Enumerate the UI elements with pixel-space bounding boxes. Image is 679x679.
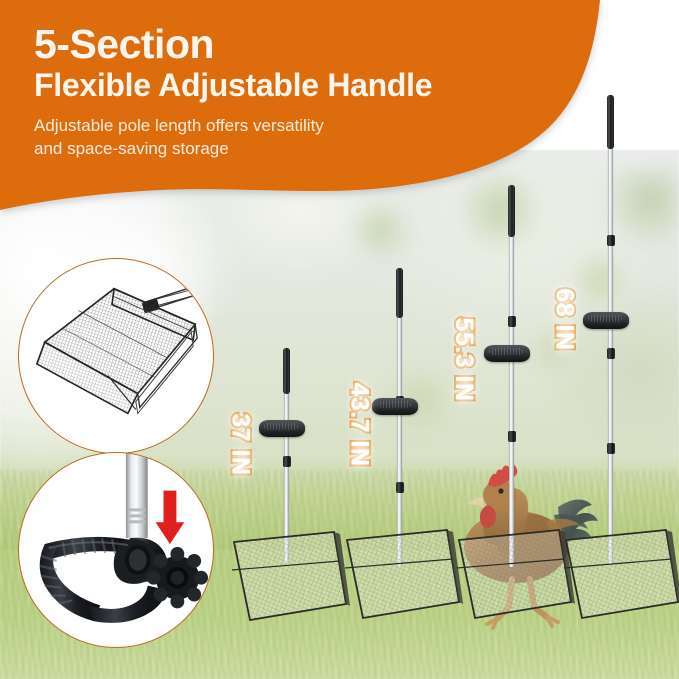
pole-collar (508, 316, 516, 327)
inset-mesh-scoop (18, 258, 214, 454)
pole-55-3in (508, 185, 515, 567)
foot-pedal-55-3in (484, 345, 530, 362)
pole-shaft (509, 185, 514, 567)
mesh-rake-head-55-3in (455, 528, 575, 628)
pole-collar (607, 348, 615, 359)
header-description-line1: Adjustable pole length offers versatilit… (34, 115, 554, 137)
pole-grip (283, 348, 290, 394)
mesh-rake-head-43-7in (343, 528, 463, 628)
pole-43-7in (396, 268, 403, 566)
header-text-block: 5-Section Flexible Adjustable Handle Adj… (34, 22, 554, 160)
size-label-37in: 37 IN (226, 405, 255, 485)
foot-pedal-43-7in (372, 398, 418, 415)
header-description-line2: and space-saving storage (34, 138, 554, 160)
pole-collar (607, 235, 615, 246)
pole-collar (607, 443, 615, 454)
header-description: Adjustable pole length offers versatilit… (34, 115, 554, 160)
foot-pedal-37in (259, 420, 305, 437)
pole-collar (283, 456, 291, 467)
foot-pedal-68in (583, 312, 629, 329)
pole-collar (396, 482, 404, 493)
size-label-43-7in: 43.7 IN (345, 370, 374, 480)
page-title: 5-Section (34, 22, 554, 66)
inset-grip-handle (18, 452, 214, 648)
lock-knob-icon (147, 547, 208, 608)
product-infographic: 37 IN 43.7 IN 55.3 IN 68 IN (0, 0, 679, 679)
size-label-55-3in: 55.3 IN (449, 302, 478, 417)
pole-grip (396, 268, 403, 318)
pole-collar (508, 431, 516, 442)
mesh-rake-head-68in (562, 528, 679, 628)
red-down-arrow-icon (156, 491, 185, 544)
size-label-68in: 68 IN (550, 275, 579, 365)
mesh-rake-head-37in (230, 530, 350, 630)
page-subtitle-strong: Flexible Adjustable Handle (34, 68, 554, 103)
